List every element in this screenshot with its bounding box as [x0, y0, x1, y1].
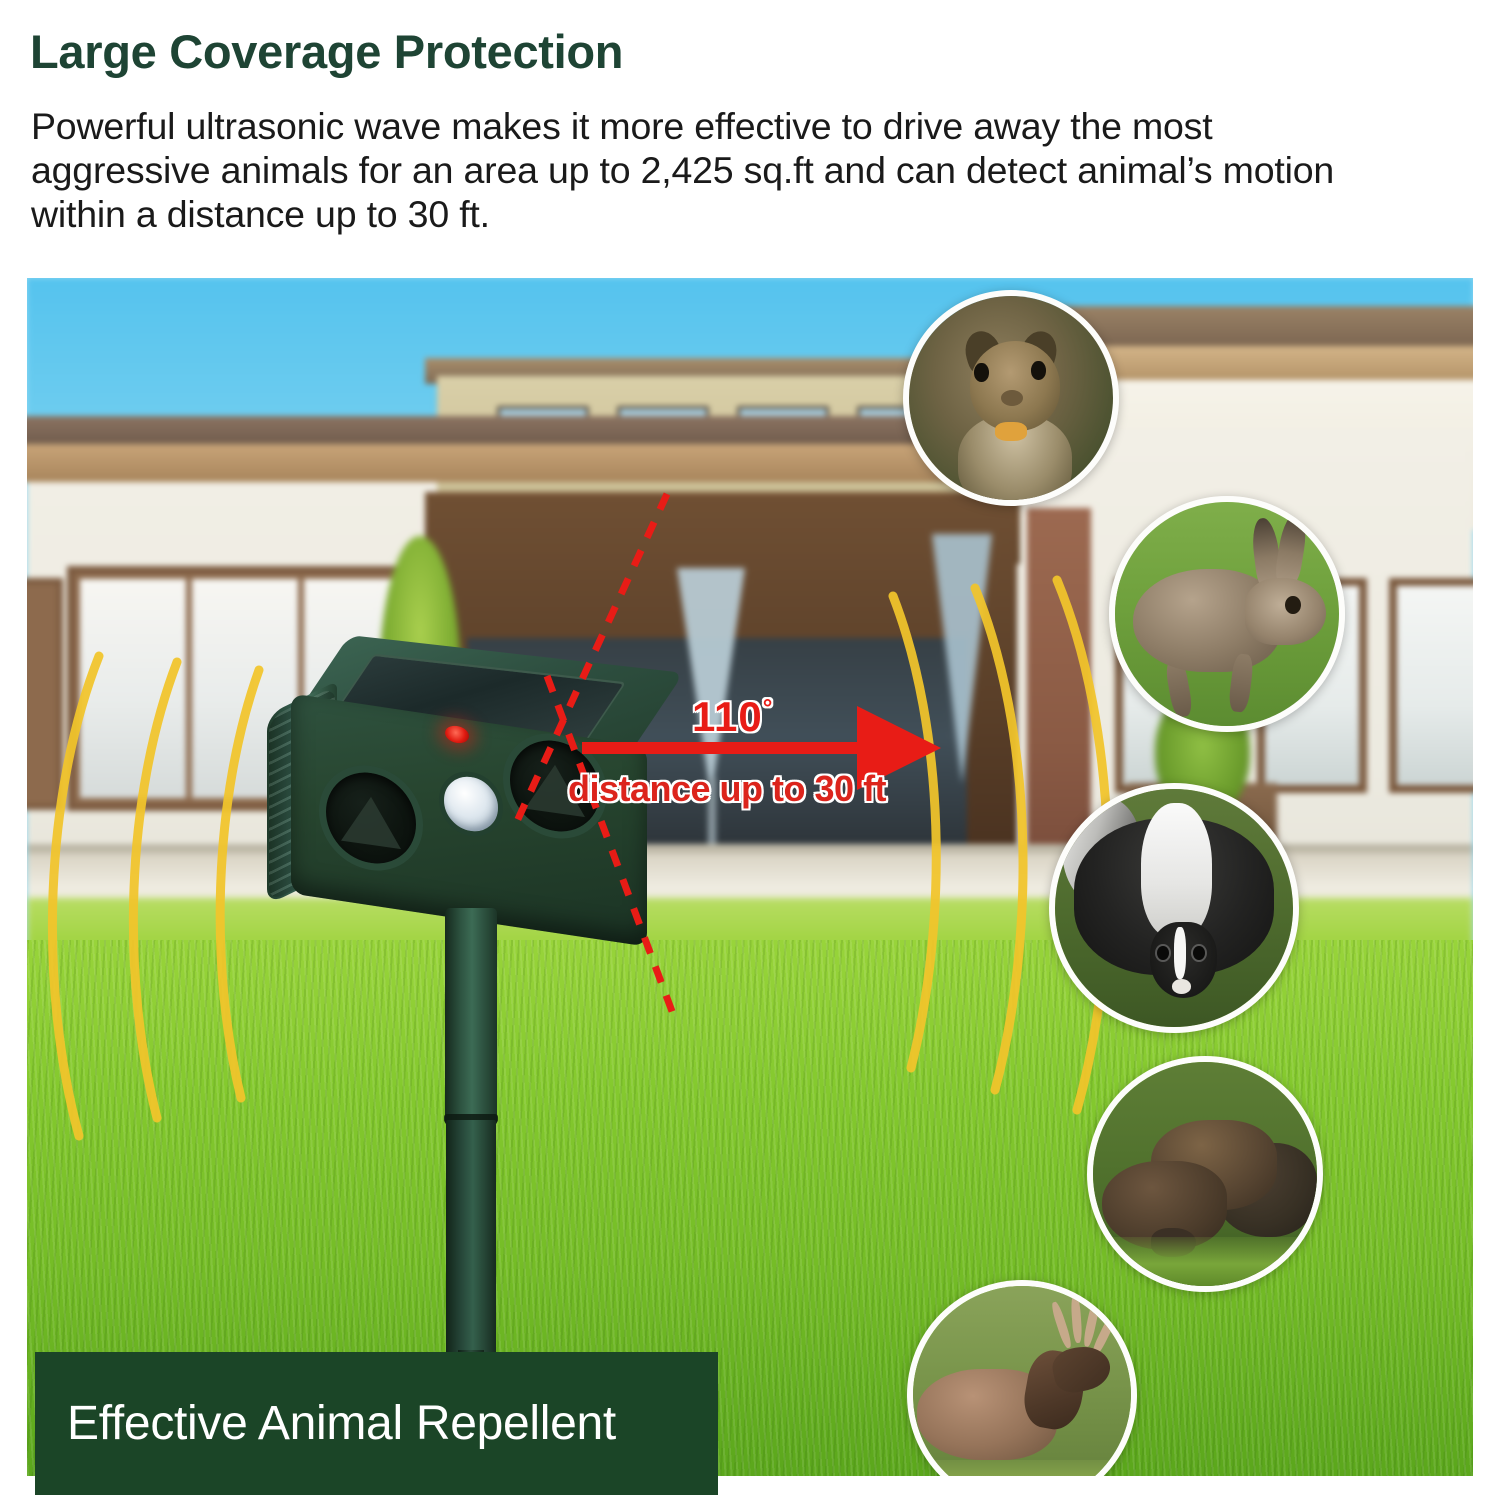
animal-photo-rabbit [1109, 496, 1345, 732]
page-title: Large Coverage Protection [30, 24, 623, 79]
rabbit-head [1245, 578, 1326, 645]
squirrel-eye-left [974, 363, 988, 381]
rabbit-eye [1285, 596, 1301, 614]
rabbit-ear-right [1273, 512, 1309, 587]
solar-ultrasonic-repeller-device [263, 650, 683, 1350]
ground-stake-upper [445, 908, 497, 1124]
skunk-face-stripe [1174, 927, 1186, 979]
squirrel-food [995, 422, 1028, 440]
roof-main [27, 416, 1027, 446]
squirrel-head [970, 341, 1060, 431]
animal-photo-skunk [1049, 783, 1299, 1033]
window-right [1389, 578, 1473, 793]
elk-antler-tine [1050, 1301, 1073, 1349]
bottom-banner: Effective Animal Repellent [35, 1352, 718, 1495]
bottom-banner-text: Effective Animal Repellent [67, 1396, 616, 1451]
boar-grass-foreground [1093, 1237, 1317, 1286]
detection-distance-label: distance up to 30 ft [568, 768, 886, 810]
animal-photo-squirrel [903, 290, 1119, 506]
patio-umbrella-second [932, 534, 992, 784]
page-description: Powerful ultrasonic wave makes it more e… [31, 104, 1391, 236]
animal-photo-elk [907, 1280, 1137, 1476]
ground-stake-lower [446, 1120, 496, 1356]
fascia-main [27, 444, 1027, 482]
animal-photo-wild-boars [1087, 1056, 1323, 1292]
squirrel-eye-right [1031, 361, 1045, 379]
header-text-block: Large Coverage Protection Powerful ultra… [0, 0, 1500, 278]
detection-angle-value: 110 [692, 693, 763, 740]
product-scene-photo: 110° distance up to 30 ft [27, 278, 1473, 1476]
elk-grass-foreground [913, 1460, 1131, 1476]
skunk-back-stripe [1141, 803, 1212, 936]
window-far-left [27, 578, 63, 810]
detection-angle-label: 110° [692, 693, 773, 741]
degree-symbol: ° [763, 695, 774, 722]
skunk-snout [1172, 979, 1191, 993]
patio-umbrella [677, 568, 745, 798]
elk-antler-tine [1070, 1294, 1082, 1342]
